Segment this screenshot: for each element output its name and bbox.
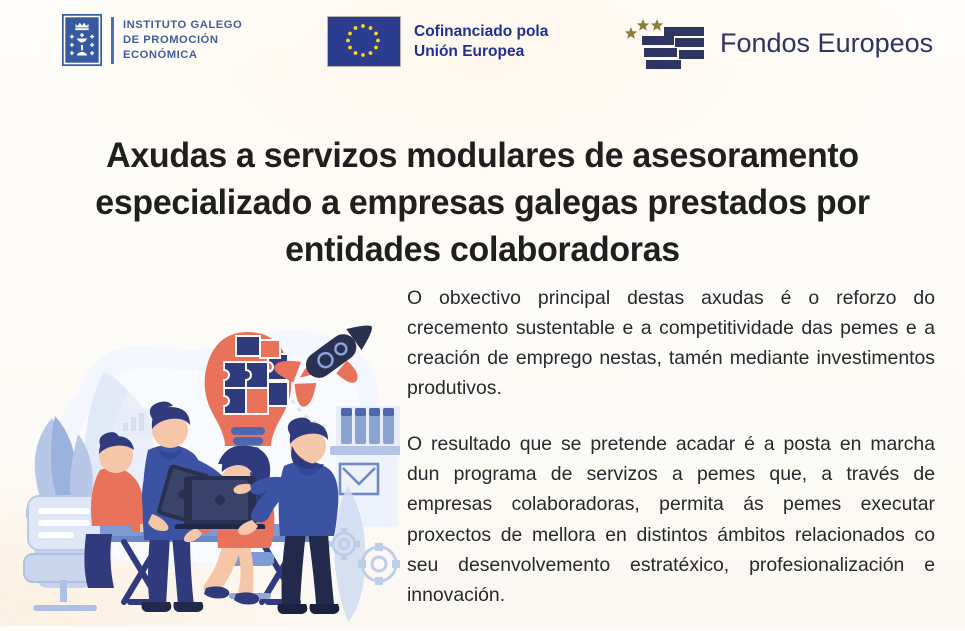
body-copy: O obxectivo principal destas axudas é o … (407, 283, 935, 610)
page-title: Axudas a servizos modulares de asesorame… (54, 132, 911, 273)
fondos-europeos-staircase-icon (618, 10, 706, 76)
logo-eu-label: Cofinanciado pola Unión Europea (414, 22, 548, 62)
eu-line-1: Cofinanciado pola (414, 22, 548, 42)
logo-fondos-europeos: Fondos Europeos (618, 10, 933, 76)
team-brainstorming-illustration (0, 296, 400, 626)
logo-igpe: INSTITUTO GALEGO DE PROMOCIÓN ECONÓMICA (62, 14, 242, 66)
igpe-line-2: DE PROMOCIÓN (123, 33, 242, 48)
logo-european-union: Cofinanciado pola Unión Europea (327, 16, 548, 67)
logo-divider-rule (111, 17, 114, 64)
logo-fondos-europeos-label: Fondos Europeos (720, 30, 933, 57)
logo-band: INSTITUTO GALEGO DE PROMOCIÓN ECONÓMICA (0, 0, 965, 92)
igpe-line-3: ECONÓMICA (123, 48, 242, 63)
xunta-coat-of-arms-icon (62, 14, 102, 66)
body-paragraph-2: O resultado que se pretende acadar é a p… (407, 429, 935, 609)
igpe-line-1: INSTITUTO GALEGO (123, 18, 242, 33)
eu-line-2: Unión Europea (414, 42, 548, 62)
european-union-flag-icon (327, 16, 401, 67)
logo-igpe-label: INSTITUTO GALEGO DE PROMOCIÓN ECONÓMICA (123, 18, 242, 63)
body-paragraph-1: O obxectivo principal destas axudas é o … (407, 283, 935, 403)
